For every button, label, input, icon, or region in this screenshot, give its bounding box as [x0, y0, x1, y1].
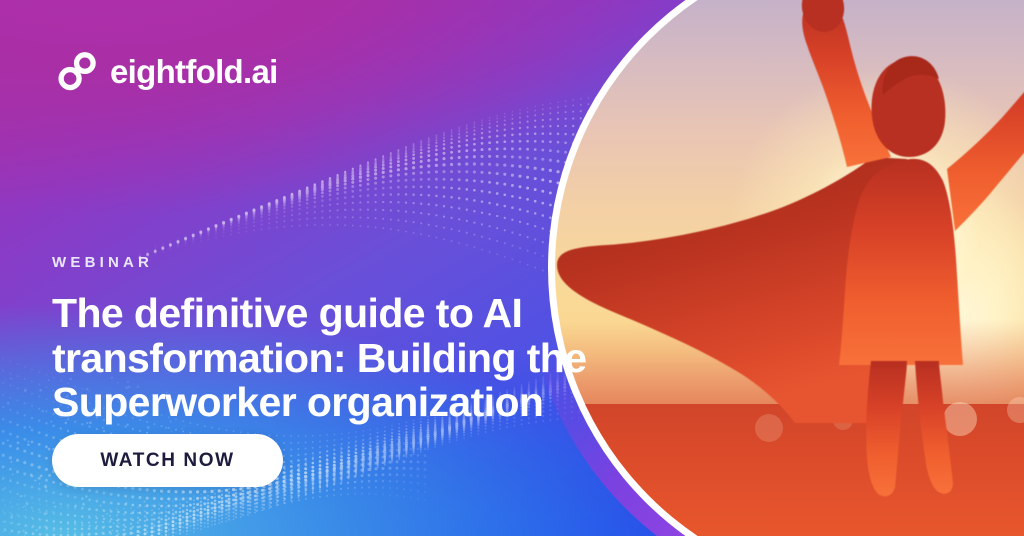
brand-name: eightfold.ai: [110, 55, 278, 88]
hero-white-ring: [548, 0, 1024, 536]
page-title: The definitive guide to AI transformatio…: [52, 291, 592, 425]
watch-now-button[interactable]: WATCH NOW: [52, 434, 283, 487]
ground-plane: [555, 404, 1024, 536]
hero-photo: [555, 0, 1024, 536]
brand-logo[interactable]: eightfold.ai: [55, 48, 278, 94]
headline-line-1: The definitive guide to AI: [52, 290, 522, 336]
eyebrow-label: WEBINAR: [52, 255, 592, 270]
eightfold-infinity-logo-icon: [55, 48, 101, 94]
webinar-promo-banner: eightfold.ai: [0, 0, 1024, 536]
superhero-silhouette-icon: [555, 0, 1024, 536]
hero-image: [548, 0, 1024, 536]
headline-line-2: transformation: Building the: [52, 335, 586, 381]
copy-block: WEBINAR The definitive guide to AI trans…: [52, 255, 592, 425]
sun-glow: [726, 64, 1024, 394]
headline-line-3: Superworker organization: [52, 379, 543, 425]
hero-accent-arc: [526, 0, 1024, 536]
horizon-haze: [555, 320, 1024, 430]
